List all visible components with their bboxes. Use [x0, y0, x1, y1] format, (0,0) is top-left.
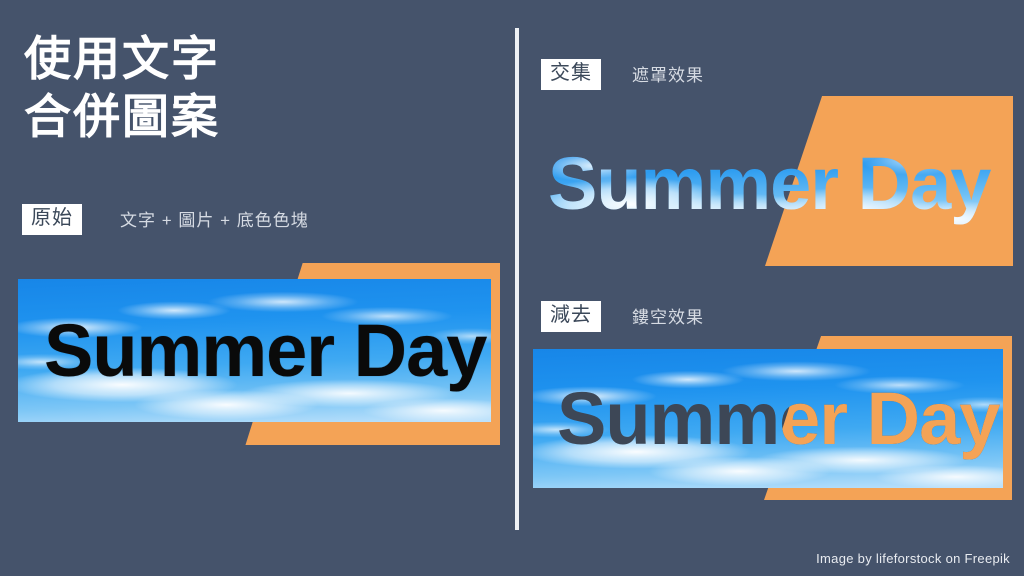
intersect-artwork-text: Summer Day [548, 138, 1008, 230]
badge-subtract: 減去 [541, 301, 601, 332]
subtract-artwork-group: Summer Day Summer Day [533, 349, 1003, 488]
image-credit: Image by lifeforstock on Freepik [816, 551, 1010, 566]
page-title: 使用文字 合併圖案 [24, 30, 220, 147]
title-line-1: 使用文字 [24, 32, 220, 85]
caption-intersect: 遮罩效果 [632, 66, 704, 86]
badge-original: 原始 [22, 204, 82, 235]
title-line-2: 合併圖案 [24, 90, 220, 143]
caption-subtract: 鏤空效果 [632, 308, 704, 328]
slide-canvas: 使用文字 合併圖案 原始 文字 + 圖片 + 底色色塊 Summer Day 交… [0, 0, 1024, 576]
vertical-divider-icon [515, 28, 519, 530]
caption-original: 文字 + 圖片 + 底色色塊 [120, 211, 309, 231]
original-artwork-text: Summer Day [18, 279, 491, 422]
badge-intersect: 交集 [541, 59, 601, 90]
